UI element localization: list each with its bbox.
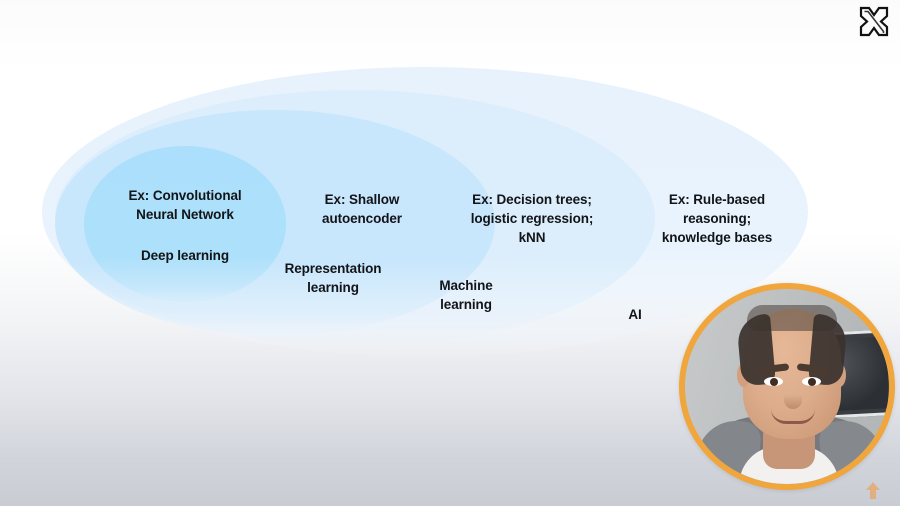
up-arrow-icon[interactable] (864, 480, 882, 500)
deep-learning-example-label: Ex: Convolutional Neural Network (100, 186, 270, 224)
presenter-nose (784, 385, 802, 409)
deep-learning-name-label: Deep learning (100, 246, 270, 265)
machine-learning-example-label: Ex: Decision trees; logistic regression;… (442, 190, 622, 247)
machine-learning-name-label: Machine learning (404, 276, 528, 314)
webcam-video-frame (685, 289, 889, 484)
ai-example-label: Ex: Rule-based reasoning; knowledge base… (626, 190, 808, 247)
x-mark-logo (857, 5, 891, 38)
ai-name-label: AI (600, 305, 670, 324)
slide-canvas: Ex: Convolutional Neural Network Deep le… (0, 0, 900, 506)
representation-learning-example-label: Ex: Shallow autoencoder (278, 190, 446, 228)
presenter-pupil-left (770, 378, 778, 386)
presenter-eye-left (764, 377, 783, 386)
presenter-eye-right (802, 377, 821, 386)
representation-learning-name-label: Representation learning (258, 259, 408, 297)
presenter-pupil-right (808, 378, 816, 386)
presenter-webcam-bubble[interactable] (679, 283, 895, 490)
